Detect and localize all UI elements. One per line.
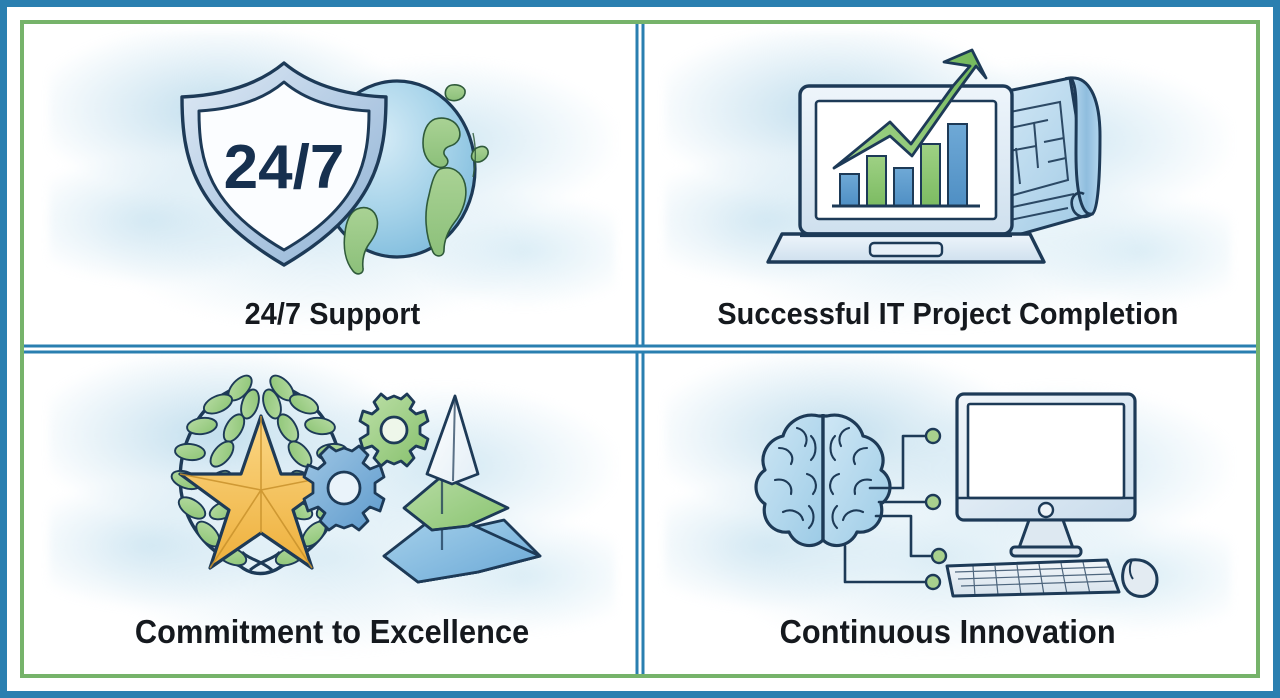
panel-innovation[interactable]: Continuous Innovation xyxy=(640,349,1256,674)
laptop-icon xyxy=(768,50,1044,262)
panel-projects[interactable]: Successful IT Project Completion xyxy=(640,24,1256,349)
panel-excellence[interactable]: Commitment to Excellence xyxy=(24,349,640,674)
brain-icon xyxy=(756,414,890,546)
shield-badge-text: 24/7 xyxy=(224,133,345,202)
panel-support-caption: 24/7 Support xyxy=(244,298,420,349)
panel-excellence-caption: Commitment to Excellence xyxy=(135,615,529,674)
monitor-icon xyxy=(957,394,1135,556)
poster-frame: 24/7 24/7 Support xyxy=(0,0,1280,698)
excellence-illustration xyxy=(24,349,640,615)
panel-innovation-caption: Continuous Innovation xyxy=(780,615,1116,674)
mouse-icon xyxy=(1123,560,1157,597)
feature-grid: 24/7 24/7 Support xyxy=(24,24,1256,674)
panel-support[interactable]: 24/7 24/7 Support xyxy=(24,24,640,349)
projects-illustration xyxy=(640,24,1256,298)
panel-projects-caption: Successful IT Project Completion xyxy=(717,298,1178,349)
support-illustration: 24/7 xyxy=(24,24,640,298)
connector-dot xyxy=(926,429,946,589)
keyboard-icon xyxy=(947,560,1119,596)
innovation-illustration xyxy=(640,349,1256,615)
